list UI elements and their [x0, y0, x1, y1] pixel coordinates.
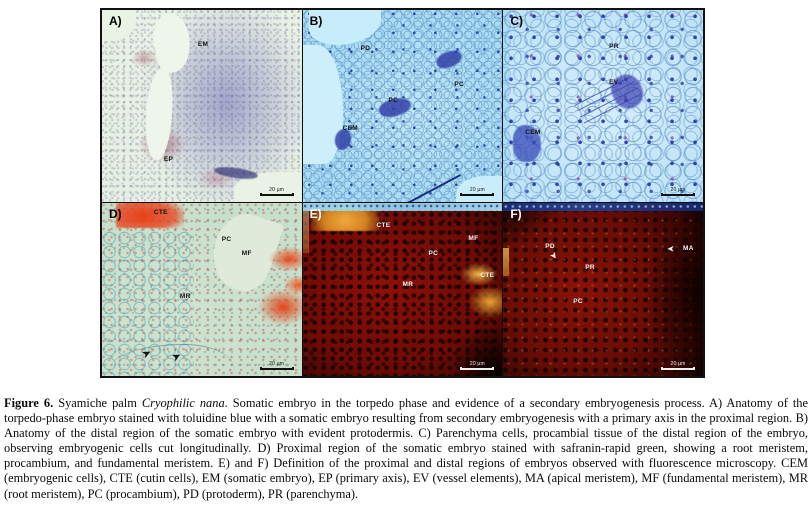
panel-e-label-cte-right: CTE [480, 272, 494, 279]
panel-d-scalebar: 20 µm [260, 361, 294, 370]
panel-c: C) PR EV CEM 20 µm [502, 10, 703, 202]
panel-f-label-pc: PC [573, 298, 583, 305]
panel-c-scalebar-bar [661, 193, 695, 196]
figure-caption-species: Cryophilic nana [142, 396, 225, 410]
panel-f-label-pr: PR [585, 264, 595, 271]
figure-image-grid: A) EM EP 20 µm B) PD PC PC CEM [100, 8, 705, 378]
panel-e: E) CTE PC MF MR CTE 20 µm [302, 203, 503, 376]
panel-d-safranin-region-right [246, 241, 302, 341]
panel-f-label-ma: MA [683, 245, 694, 252]
panel-c-label-pr: PR [609, 43, 619, 50]
panel-f: F) PD ➤ MA ➤ PR PC 20 µm [502, 203, 703, 376]
figure-caption-leadin: Syamiche palm [53, 396, 142, 410]
panel-f-strip-texture [503, 203, 703, 211]
panel-a-letter: A) [109, 14, 122, 28]
panel-d-label-pc: PC [222, 236, 232, 243]
panel-b-label-pd: PD [361, 45, 371, 52]
panel-e-left-sliver [303, 211, 309, 252]
panel-f-dark-right [647, 217, 703, 365]
panel-f-scalebar: 20 µm [661, 361, 695, 370]
panel-b-label-cem: CEM [343, 125, 358, 132]
panel-d-cutin-cells-top [116, 203, 184, 227]
panel-e-cutin-cells-right [458, 255, 502, 324]
figure-row-top: A) EM EP 20 µm B) PD PC PC CEM [102, 10, 703, 202]
panel-b-letter: B) [310, 14, 323, 28]
panel-f-adjacent-image-strip [503, 203, 703, 211]
panel-c-label-cem: CEM [525, 129, 540, 136]
panel-d-scalebar-bar [260, 367, 294, 370]
panel-a: A) EM EP 20 µm [102, 10, 302, 202]
panel-b-scalebar-bar [460, 193, 494, 196]
panel-e-scalebar: 20 µm [460, 361, 494, 370]
panel-b-label-pc-center: PC [389, 97, 399, 104]
panel-d-label-mf: MF [242, 250, 252, 257]
figure-caption-label: Figure 6. [4, 396, 53, 410]
panel-e-strip-texture [303, 203, 503, 211]
panel-f-label-pd: PD [545, 243, 555, 250]
panel-c-letter: C) [510, 14, 523, 28]
panel-a-scalebar-bar [260, 193, 294, 196]
panel-e-scalebar-bar [460, 367, 494, 370]
panel-f-letter: F) [510, 207, 521, 221]
panel-f-scalebar-bar [661, 367, 695, 370]
panel-f-arrow-ma-icon: ➤ [667, 243, 675, 252]
panel-e-adjacent-image-strip [303, 203, 503, 211]
panel-e-label-mf: MF [468, 235, 478, 242]
panel-b-scalebar: 20 µm [460, 187, 494, 196]
panel-a-label-em: EM [198, 41, 208, 48]
panel-e-label-mr: MR [403, 281, 414, 288]
panel-e-label-cte-top: CTE [377, 222, 391, 229]
panel-f-left-sliver [503, 248, 509, 276]
panel-b-label-pc-upper: PC [454, 81, 464, 88]
panel-a-scalebar: 20 µm [260, 187, 294, 196]
panel-d-label-mr: MR [180, 293, 191, 300]
panel-d-label-cte: CTE [154, 209, 168, 216]
panel-e-letter: E) [310, 207, 322, 221]
panel-b: B) PD PC PC CEM 20 µm [302, 10, 503, 202]
panel-e-label-pc: PC [428, 250, 438, 257]
panel-d: D) CTE PC MF MR ➤ ➤ 20 µm [102, 203, 302, 376]
figure-caption: Figure 6. Syamiche palm Cryophilic nana.… [4, 396, 808, 502]
panel-c-label-ev: EV [609, 79, 618, 86]
figure-caption-body: . Somatic embryo in the torpedo phase an… [4, 396, 808, 501]
panel-c-scalebar: 20 µm [661, 187, 695, 196]
figure-row-bottom: D) CTE PC MF MR ➤ ➤ 20 µm E) CTE PC MF [102, 202, 703, 376]
panel-a-label-ep: EP [164, 156, 173, 163]
panel-d-letter: D) [109, 207, 122, 221]
